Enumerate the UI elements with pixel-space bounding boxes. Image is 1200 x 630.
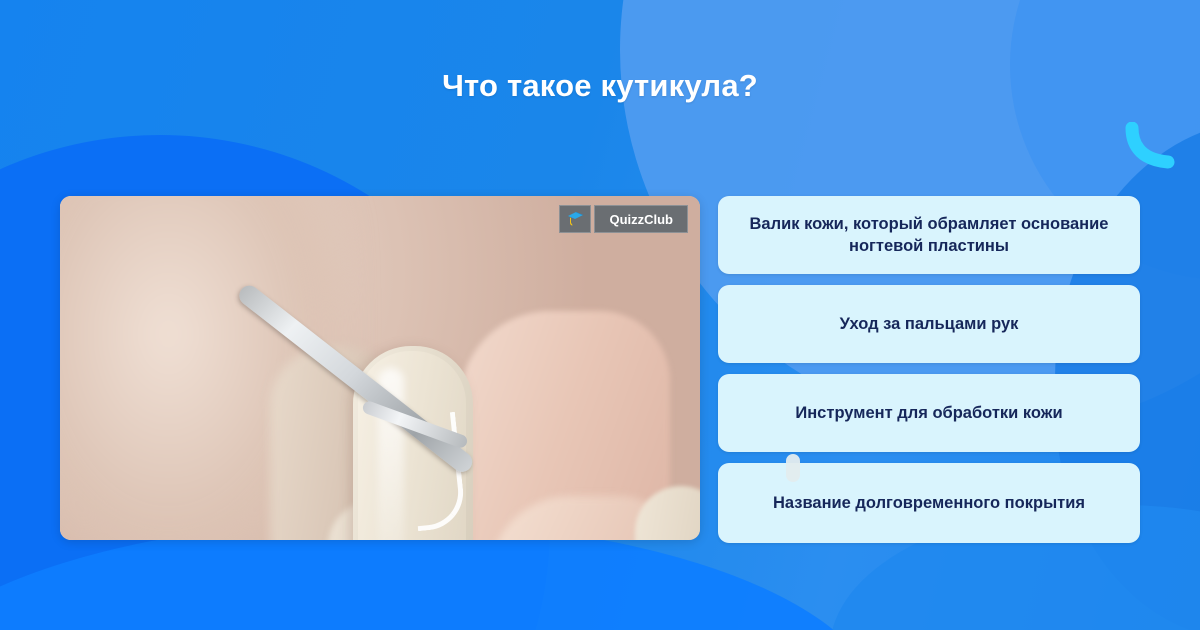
answer-option-2[interactable]: Уход за пальцами рук: [718, 285, 1140, 363]
watermark-badge: QuizzClub: [559, 205, 688, 233]
answer-option-4[interactable]: Название долговременного покрытия: [718, 463, 1140, 543]
answer-list: Валик кожи, который обрамляет основание …: [718, 196, 1140, 543]
cyan-swoosh-icon: [1124, 122, 1176, 170]
watermark-label: QuizzClub: [594, 205, 688, 233]
quiz-card: Что такое кутикула? QuizzClub Валик ко: [0, 0, 1200, 630]
scroll-thumb[interactable]: [786, 454, 800, 482]
answer-option-3[interactable]: Инструмент для обработки кожи: [718, 374, 1140, 452]
answer-option-1[interactable]: Валик кожи, который обрамляет основание …: [718, 196, 1140, 274]
graduation-cap-icon: [559, 205, 591, 233]
page-title: Что такое кутикула?: [0, 68, 1200, 104]
question-image: QuizzClub: [60, 196, 700, 540]
